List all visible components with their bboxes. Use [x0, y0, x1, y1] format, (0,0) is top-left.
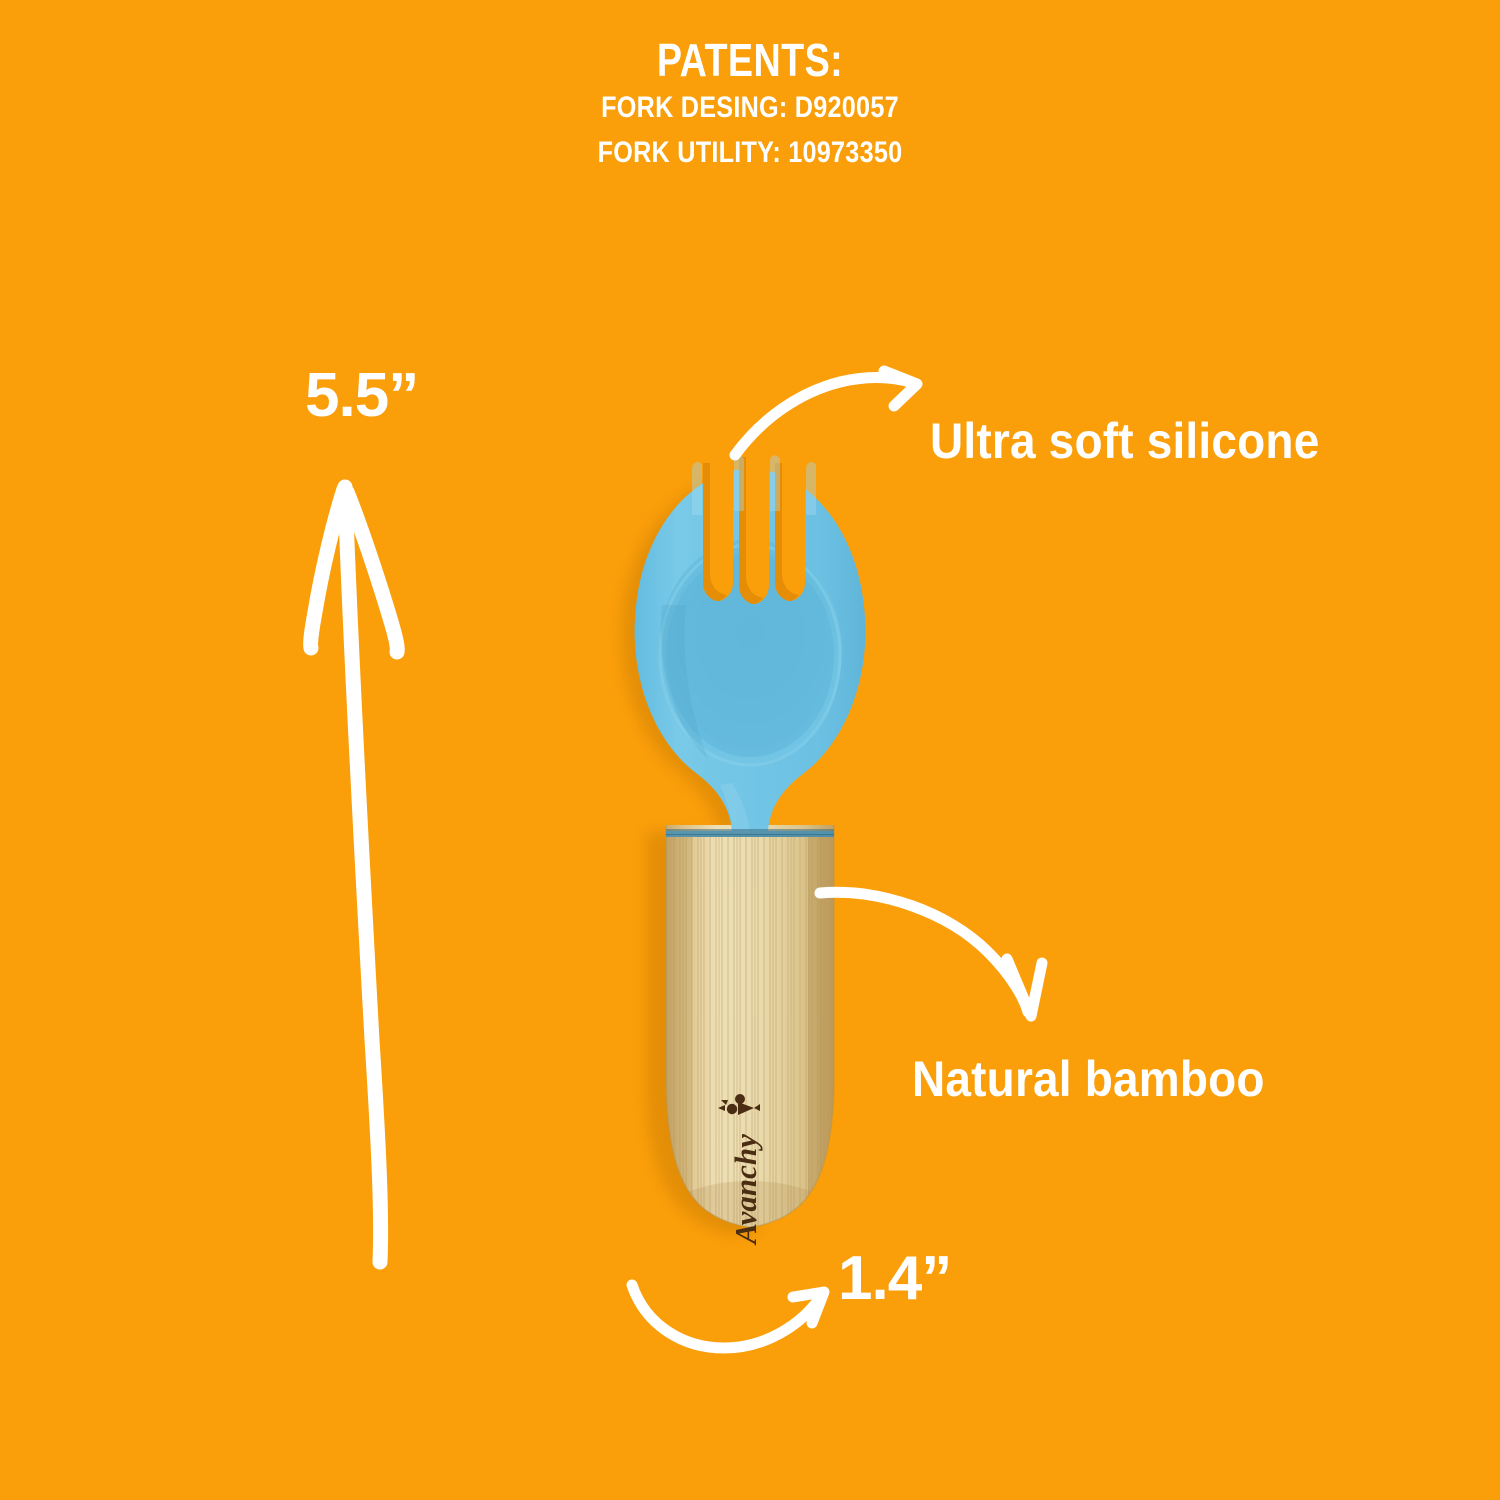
height-measurement-label: 5.5” — [305, 360, 418, 431]
fork-tine-slots — [703, 457, 805, 604]
infographic-canvas: PATENTS: FORK DESING: D920057 FORK UTILI… — [0, 0, 1500, 1500]
curved-width-arrow-icon — [632, 1285, 824, 1348]
product-illustration: Avanchy — [600, 455, 900, 1285]
callout-label-ultra-soft-silicone: Ultra soft silicone — [930, 412, 1319, 470]
patents-block: PATENTS: FORK DESING: D920057 FORK UTILI… — [0, 36, 1500, 173]
patent-fork-utility-line: FORK UTILITY: 10973350 — [120, 133, 1380, 174]
patent-fork-design-line: FORK DESING: D920057 — [120, 88, 1380, 129]
vertical-arrow-up-icon — [311, 487, 398, 1262]
brand-logo-text: Avanchy — [728, 1134, 763, 1246]
patents-title: PATENTS: — [135, 36, 1365, 84]
width-measurement-label: 1.4” — [838, 1243, 951, 1314]
callout-label-natural-bamboo: Natural bamboo — [912, 1050, 1265, 1108]
fork-svg: Avanchy — [600, 455, 900, 1285]
curved-arrow-up-right-icon — [735, 371, 917, 455]
